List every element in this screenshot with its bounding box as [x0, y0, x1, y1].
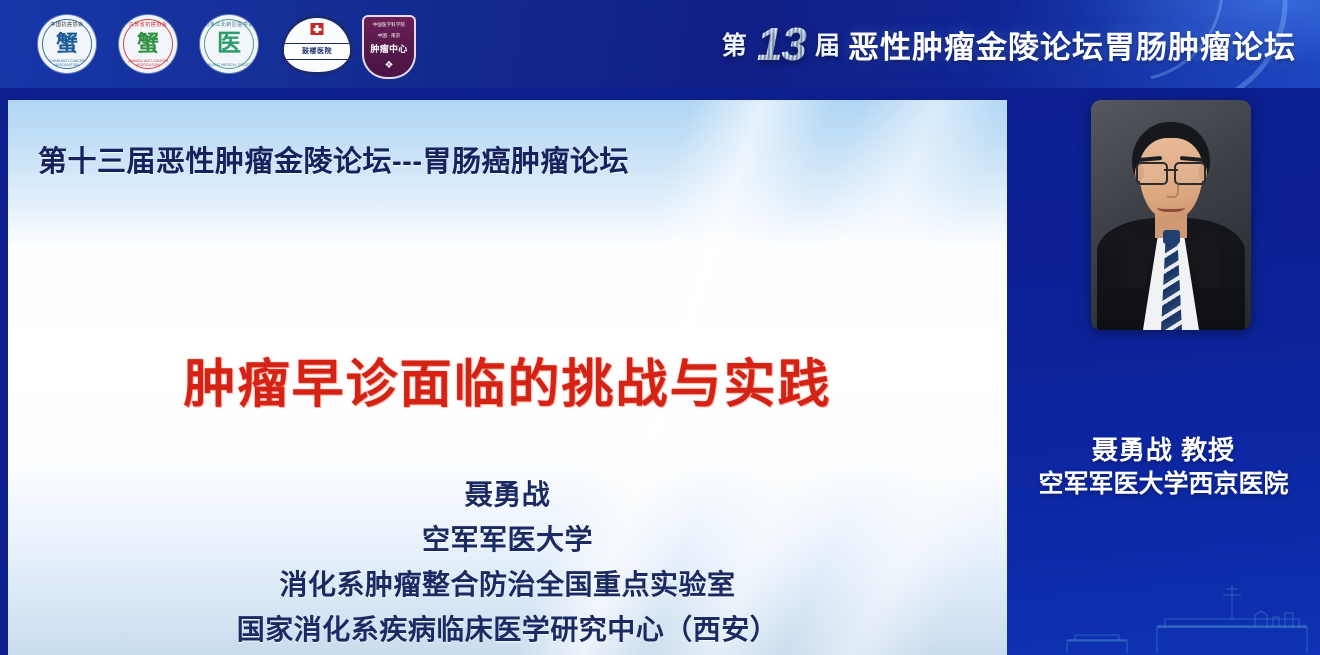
emblem-icon: ❖ [364, 60, 414, 71]
portrait-nose [1166, 182, 1179, 198]
speaker-university: 空军军医大学 [8, 517, 1007, 562]
glasses-icon [1136, 162, 1206, 182]
slide-affiliation-block: 聂勇战 空军军医大学 消化系肿瘤整合防治全国重点实验室 国家消化系疾病临床医学研… [8, 472, 1007, 655]
slide-header-text: 第十三届恶性肿瘤金陵论坛---胃肠癌肿瘤论坛 [38, 138, 629, 180]
speaker-name: 聂勇战 [8, 472, 1007, 517]
logo-ring-text: JIANGSU ANTI-CANCER ASSOCIATION [122, 59, 174, 67]
logo-top-text: 中国医学科学院 [364, 22, 414, 28]
glasses-lens-left [1136, 162, 1168, 185]
banner-ordinal-suffix: 届 [815, 26, 841, 62]
banner-edition-number: 13 [755, 21, 808, 67]
logo-top-text: 中国抗癌协会 [38, 21, 96, 28]
slide-content-area: 第十三届恶性肿瘤金陵论坛---胃肠癌肿瘤论坛 肿瘤早诊面临的挑战与实践 聂勇战 … [8, 100, 1007, 655]
speaker-photo [1091, 100, 1251, 330]
speaker-caption: 聂勇战 教授 空军军医大学西京医院 [1007, 433, 1320, 501]
crab-icon: 蟹 [119, 33, 177, 55]
logo-ring-text: CHINA ANTI-CANCER ASSOCIATION [41, 59, 93, 67]
banner-title: 第 13 届 恶性肿瘤金陵论坛胃肠肿瘤论坛 [722, 0, 1296, 88]
logo-jiangsu-anti-cancer-association: 江苏省抗癌协会 蟹 JIANGSU ANTI-CANCER ASSOCIATIO… [119, 15, 177, 73]
presentation-screenshot: 中国抗癌协会 蟹 CHINA ANTI-CANCER ASSOCIATION 江… [0, 0, 1320, 655]
logo-cancer-center: 中国医学科学院 中国 · 南京 肿瘤中心 ❖ [362, 15, 420, 73]
logo-nanjing-medical-society: 南京江北新区医学会 医 NANJING MEDICAL SOCIETY [200, 15, 258, 73]
crab-icon: 蟹 [38, 33, 96, 55]
slide-main-title: 肿瘤早诊面临的挑战与实践 [8, 342, 1007, 417]
logo-china-anti-cancer-association: 中国抗癌协会 蟹 CHINA ANTI-CANCER ASSOCIATION [38, 15, 96, 73]
speaker-panel: 聂勇战 教授 空军军医大学西京医院 [1007, 88, 1320, 655]
logo-top-text: 南京江北新区医学会 [200, 21, 258, 28]
logo-gulou-hospital: 鼓楼医院 [281, 15, 339, 73]
portrait-mouth [1157, 201, 1185, 212]
logo-sub-text: 中国 · 南京 [364, 33, 414, 39]
logo-ring-text: NANJING MEDICAL SOCIETY [203, 63, 255, 67]
logo-ribbon-text: 鼓楼医院 [281, 43, 353, 60]
logo-main-text: 肿瘤中心 [364, 42, 414, 55]
event-banner: 中国抗癌协会 蟹 CHINA ANTI-CANCER ASSOCIATION 江… [0, 0, 1320, 88]
medical-cross-icon [311, 23, 324, 35]
banner-ordinal-prefix: 第 [722, 26, 748, 62]
logo-top-text: 江苏省抗癌协会 [119, 21, 177, 28]
city-skyline-decoration-icon [1007, 515, 1320, 655]
speaker-caption-name: 聂勇战 教授 [1007, 433, 1320, 467]
banner-main-title: 恶性肿瘤金陵论坛胃肠肿瘤论坛 [848, 22, 1296, 67]
speaker-research-center: 国家消化系疾病临床医学研究中心（西安） [8, 607, 1007, 652]
organizer-logo-row: 中国抗癌协会 蟹 CHINA ANTI-CANCER ASSOCIATION 江… [38, 13, 420, 75]
speaker-caption-org: 空军军医大学西京医院 [1007, 467, 1320, 501]
speaker-laboratory: 消化系肿瘤整合防治全国重点实验室 [8, 562, 1007, 607]
society-emblem-icon: 医 [200, 33, 258, 55]
portrait-tie-knot [1163, 230, 1180, 244]
